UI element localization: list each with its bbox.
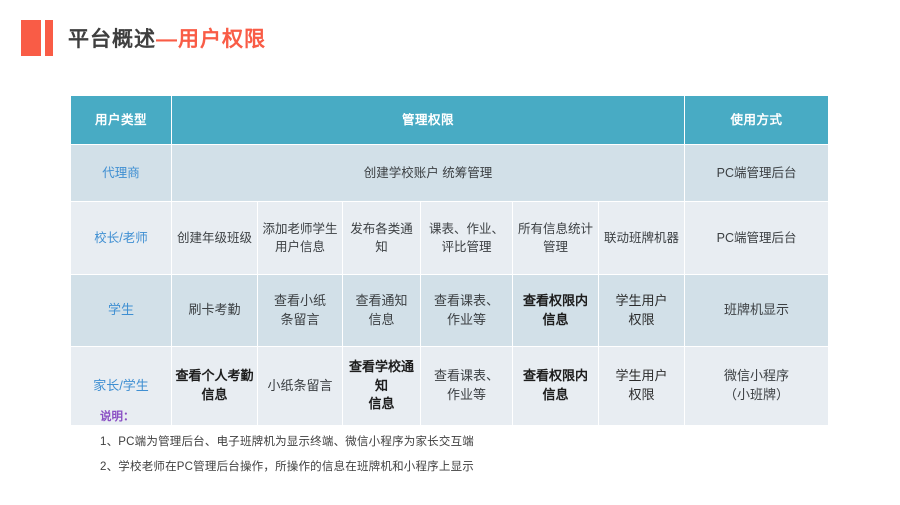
cell-permission: 所有信息统计管理 — [513, 202, 599, 275]
cell-permission: 学生用户权限 — [599, 347, 685, 426]
notes-heading: 说明： — [100, 408, 474, 424]
header-user-type: 用户类型 — [71, 96, 172, 145]
accent-bar-wide — [21, 20, 41, 56]
cell-permission: 课表、作业、评比管理 — [421, 202, 513, 275]
cell-permission: 添加老师学生用户信息 — [258, 202, 343, 275]
table-header-row: 用户类型 管理权限 使用方式 — [71, 96, 829, 145]
cell-permission: 查看通知信息 — [343, 275, 421, 347]
cell-permission: 联动班牌机器 — [599, 202, 685, 275]
cell-permission: 查看权限内信息 — [513, 275, 599, 347]
cell-permission: 创建年级班级 — [172, 202, 258, 275]
cell-user-type: 学生 — [71, 275, 172, 347]
cell-permission-merged: 创建学校账户 统筹管理 — [172, 145, 685, 202]
table-row: 校长/老师 创建年级班级 添加老师学生用户信息 发布各类通知 课表、作业、评比管… — [71, 202, 829, 275]
header-usage-mode: 使用方式 — [685, 96, 829, 145]
cell-usage: 微信小程序（小班牌） — [685, 347, 829, 426]
cell-user-type: 代理商 — [71, 145, 172, 202]
notes-block: 说明： 1、PC端为管理后台、电子班牌机为显示终端、微信小程序为家长交互端 2、… — [100, 408, 474, 483]
cell-permission: 查看课表、作业等 — [421, 275, 513, 347]
cell-permission: 查看权限内信息 — [513, 347, 599, 426]
notes-line: 1、PC端为管理后台、电子班牌机为显示终端、微信小程序为家长交互端 — [100, 433, 474, 449]
cell-usage: PC端管理后台 — [685, 145, 829, 202]
table-row: 代理商 创建学校账户 统筹管理 PC端管理后台 — [71, 145, 829, 202]
page-title-accent: —用户权限 — [156, 28, 266, 51]
page-title: 平台概述—用户权限 — [68, 23, 266, 53]
cell-usage: PC端管理后台 — [685, 202, 829, 275]
cell-permission: 学生用户权限 — [599, 275, 685, 347]
header-management-permission: 管理权限 — [172, 96, 685, 145]
user-permission-table: 用户类型 管理权限 使用方式 代理商 创建学校账户 统筹管理 PC端管理后台 校… — [70, 95, 829, 426]
cell-usage: 班牌机显示 — [685, 275, 829, 347]
page-title-bar: 平台概述—用户权限 — [21, 20, 266, 56]
cell-permission: 查看小纸条留言 — [258, 275, 343, 347]
cell-permission: 发布各类通知 — [343, 202, 421, 275]
page-title-main: 平台概述 — [68, 28, 156, 51]
cell-user-type: 校长/老师 — [71, 202, 172, 275]
accent-bar-narrow — [45, 20, 53, 56]
cell-permission: 刷卡考勤 — [172, 275, 258, 347]
table-row: 学生 刷卡考勤 查看小纸条留言 查看通知信息 查看课表、作业等 查看权限内信息 … — [71, 275, 829, 347]
notes-line: 2、学校老师在PC管理后台操作，所操作的信息在班牌机和小程序上显示 — [100, 458, 474, 474]
